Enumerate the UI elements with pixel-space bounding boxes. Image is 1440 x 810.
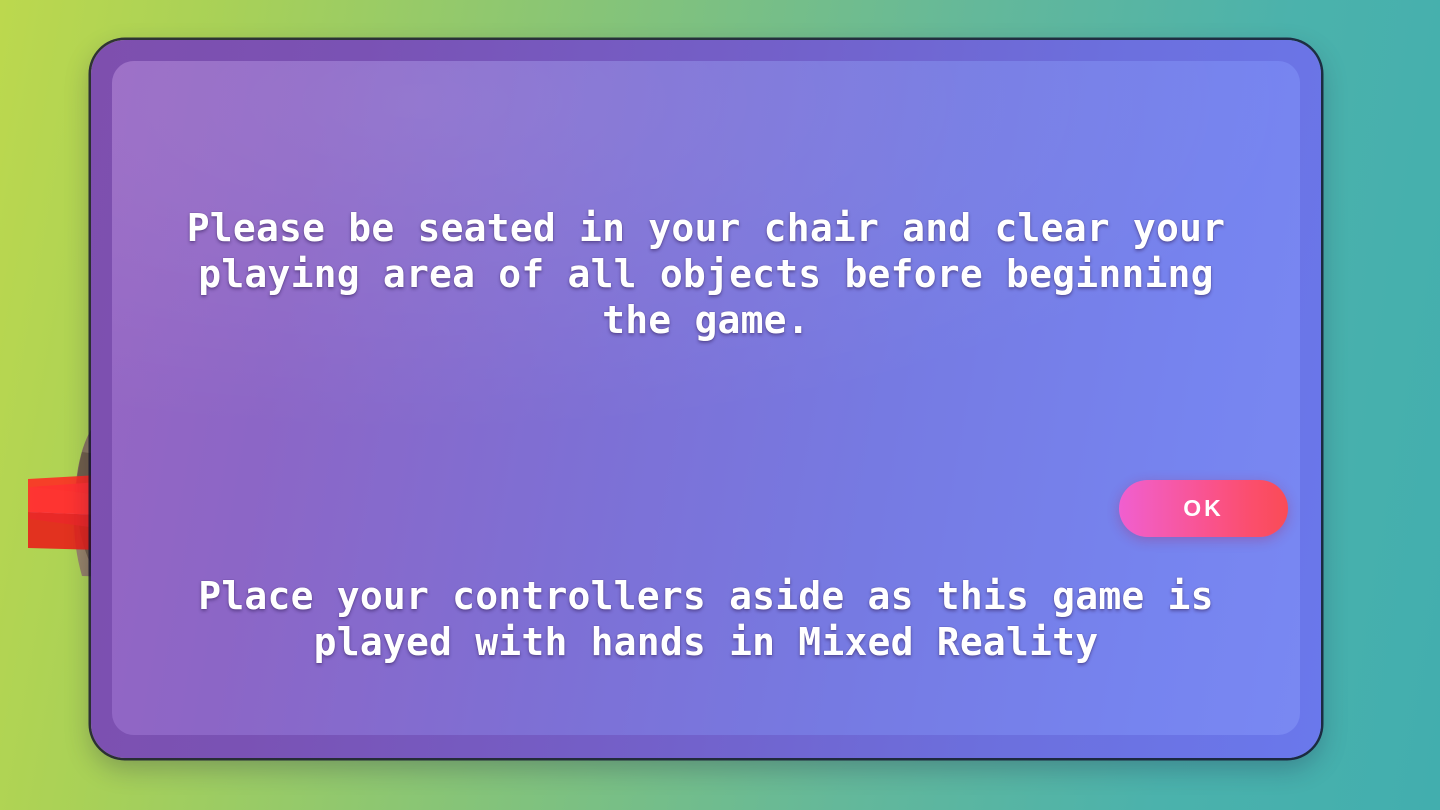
dialog-paragraph-controllers: Place your controllers aside as this gam…	[162, 573, 1250, 665]
vr-passthrough-stage: Please be seated in your chair and clear…	[0, 0, 1440, 810]
dialog-paragraph-seating: Please be seated in your chair and clear…	[162, 205, 1250, 343]
paragraph-spacer	[162, 435, 1250, 481]
dialog-inner-surface: Please be seated in your chair and clear…	[112, 61, 1300, 735]
safety-notice-dialog: Please be seated in your chair and clear…	[91, 40, 1321, 758]
dialog-message-block: Please be seated in your chair and clear…	[162, 113, 1250, 757]
ok-button[interactable]: OK	[1119, 480, 1288, 537]
